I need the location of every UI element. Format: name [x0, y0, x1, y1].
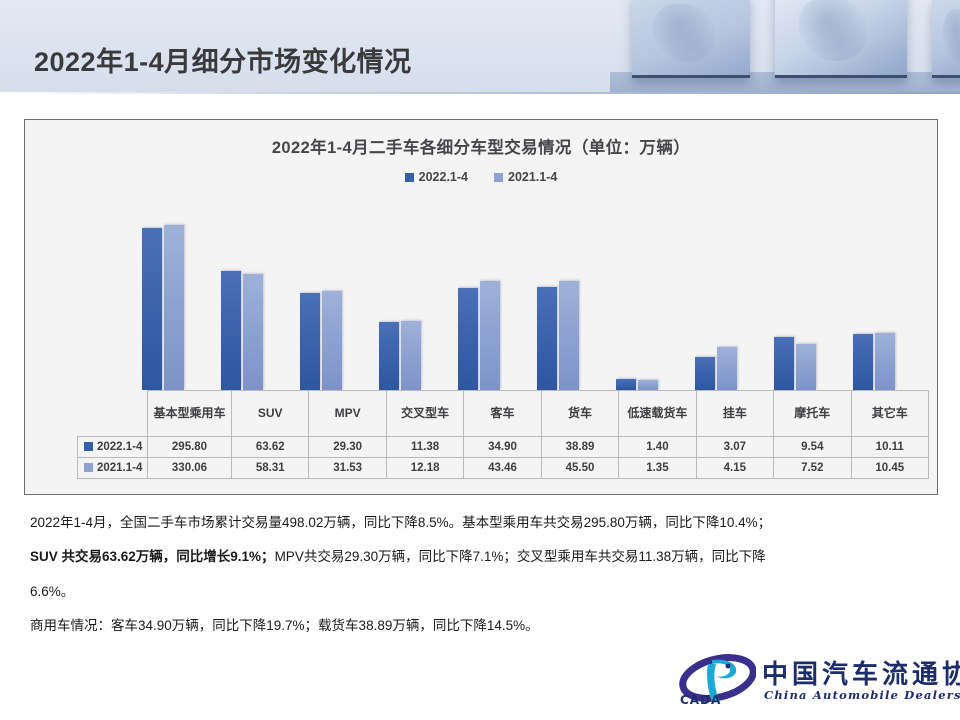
table-row-label: 2021.1-4 [78, 458, 148, 479]
legend-swatch-icon-2022 [405, 173, 414, 182]
bar-2021 [875, 333, 895, 390]
bar-2022 [221, 271, 241, 390]
bar-2021 [559, 281, 579, 390]
summary-text-block: 2022年1-4月，全国二手车市场累计交易量498.02万辆，同比下降8.5%。… [30, 508, 930, 646]
summary-paragraph-3: 6.6%。 [30, 577, 930, 607]
bar-group [202, 205, 281, 390]
bar-group [123, 205, 202, 390]
table-cell-value: 12.18 [386, 458, 463, 479]
bar-2021 [243, 274, 263, 390]
bar-2021 [796, 344, 816, 390]
cada-abbr-label: CADA [680, 693, 721, 707]
table-column-header: 货车 [541, 391, 618, 437]
table-cell-value: 34.90 [464, 437, 541, 458]
page-title: 2022年1-4月细分市场变化情况 [34, 40, 412, 79]
bar-group [281, 205, 360, 390]
cada-chinese-name: 中国汽车流通协会 [762, 654, 960, 691]
bar-group [755, 205, 834, 390]
bar-2022 [300, 293, 320, 390]
legend-item-2021: 2021.1-4 [494, 170, 557, 184]
cada-english-name: China Automobile Dealers Association [764, 688, 960, 702]
bar-2021 [717, 347, 737, 390]
table-cell-value: 9.54 [774, 437, 851, 458]
table-cell-value: 43.46 [464, 458, 541, 479]
table-cell-value: 29.30 [309, 437, 386, 458]
table-cell-value: 1.35 [619, 458, 696, 479]
table-column-header: 摩托车 [774, 391, 851, 437]
table-cell-value: 63.62 [232, 437, 309, 458]
table-cell-value: 31.53 [309, 458, 386, 479]
table-cell-value: 1.40 [619, 437, 696, 458]
cube-icon-3 [932, 0, 960, 78]
summary-paragraph-1: 2022年1-4月，全国二手车市场累计交易量498.02万辆，同比下降8.5%。… [30, 508, 930, 538]
table-corner-cell [78, 391, 148, 437]
legend-swatch-icon-2021 [494, 173, 503, 182]
table-column-header: MPV [309, 391, 386, 437]
table-column-header: 交叉型车 [386, 391, 463, 437]
bar-group [597, 205, 676, 390]
bar-2021 [164, 225, 184, 390]
chart-plot-area [123, 205, 913, 390]
bar-group [834, 205, 913, 390]
bar-group [518, 205, 597, 390]
bar-2021 [638, 380, 658, 390]
bar-group [360, 205, 439, 390]
summary-paragraph-2: SUV 共交易63.62万辆，同比增长9.1%；MPV共交易29.30万辆，同比… [30, 542, 930, 572]
table-column-header: SUV [232, 391, 309, 437]
bar-group [676, 205, 755, 390]
bar-2022 [616, 379, 636, 390]
table-swatch-icon [84, 442, 93, 451]
chart-legend: 2022.1-4 2021.1-4 [25, 170, 937, 184]
chart-data-table: 基本型乘用车SUVMPV交叉型车客车货车低速载货车挂车摩托车其它车2022.1-… [77, 390, 929, 479]
table-cell-value: 4.15 [696, 458, 773, 479]
bar-2021 [322, 291, 342, 390]
legend-label-2022: 2022.1-4 [419, 170, 468, 184]
table-column-header: 基本型乘用车 [148, 391, 232, 437]
slide-canvas: 2022年1-4月细分市场变化情况 2022年1-4月二手车各细分车型交易情况（… [0, 0, 960, 720]
bar-2021 [401, 321, 421, 390]
bar-2022 [774, 337, 794, 390]
bar-2021 [480, 281, 500, 390]
bar-2022 [537, 287, 557, 390]
table-cell-value: 295.80 [148, 437, 232, 458]
table-column-header: 客车 [464, 391, 541, 437]
bar-2022 [695, 357, 715, 390]
table-cell-value: 45.50 [541, 458, 618, 479]
table-row: 2022.1-4295.8063.6229.3011.3834.9038.891… [78, 437, 929, 458]
cube-icon-2 [775, 0, 907, 78]
table-row-label: 2022.1-4 [78, 437, 148, 458]
decorative-cubes-graphic [610, 0, 960, 92]
table-cell-value: 7.52 [774, 458, 851, 479]
bar-group [439, 205, 518, 390]
table-swatch-icon [84, 463, 93, 472]
legend-label-2021: 2021.1-4 [508, 170, 557, 184]
cube-icon-1 [632, 0, 750, 78]
table-cell-value: 10.11 [851, 437, 929, 458]
table-row: 2021.1-4330.0658.3131.5312.1843.4645.501… [78, 458, 929, 479]
cada-logo: CADA 中国汽车流通协会 China Automobile Dealers A… [678, 652, 950, 714]
bar-2022 [853, 334, 873, 390]
chart-title: 2022年1-4月二手车各细分车型交易情况（单位：万辆） [25, 134, 937, 158]
legend-item-2022: 2022.1-4 [405, 170, 468, 184]
bar-2022 [458, 288, 478, 390]
table-cell-value: 3.07 [696, 437, 773, 458]
table-cell-value: 58.31 [232, 458, 309, 479]
table-cell-value: 38.89 [541, 437, 618, 458]
header-divider [0, 92, 960, 94]
summary-paragraph-4: 商用车情况：客车34.90万辆，同比下降19.7%；载货车38.89万辆，同比下… [30, 611, 930, 641]
table-cell-value: 330.06 [148, 458, 232, 479]
table-header-row: 基本型乘用车SUVMPV交叉型车客车货车低速载货车挂车摩托车其它车 [78, 391, 929, 437]
summary-paragraph-2-rest: MPV共交易29.30万辆，同比下降7.1%；交叉型乘用车共交易11.38万辆，… [275, 549, 766, 564]
table-column-header: 挂车 [696, 391, 773, 437]
bar-2022 [142, 228, 162, 390]
bar-2022 [379, 322, 399, 390]
table-column-header: 其它车 [851, 391, 929, 437]
summary-highlight-suv: SUV 共交易63.62万辆，同比增长9.1%； [30, 549, 275, 564]
table-cell-value: 11.38 [386, 437, 463, 458]
chart-panel: 2022年1-4月二手车各细分车型交易情况（单位：万辆） 2022.1-4 20… [24, 119, 938, 495]
table-column-header: 低速载货车 [619, 391, 696, 437]
table-cell-value: 10.45 [851, 458, 929, 479]
